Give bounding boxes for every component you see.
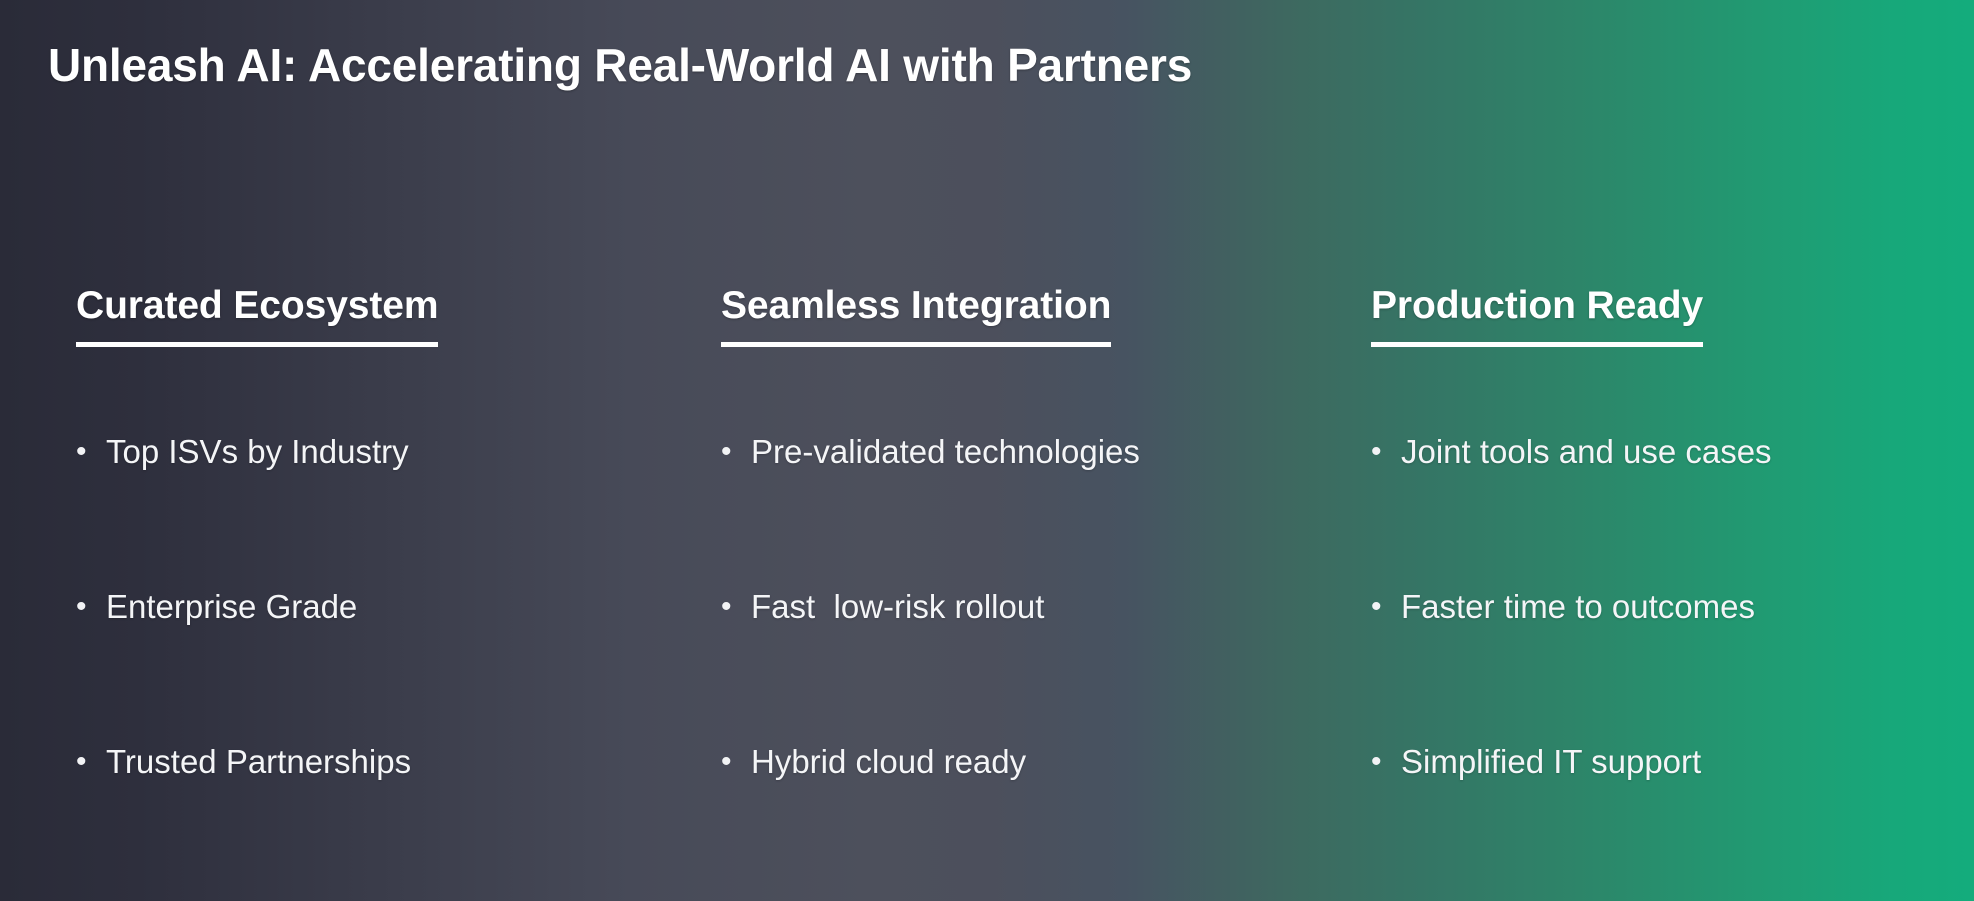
list-item-label: Fast low-risk rollout bbox=[751, 588, 1295, 626]
list-item: • Enterprise Grade bbox=[76, 588, 645, 743]
column-production-ready: Production Ready • Joint tools and use c… bbox=[1295, 284, 1974, 898]
bullet-dot-icon: • bbox=[1371, 433, 1401, 469]
list-item-label: Top ISVs by Industry bbox=[106, 433, 645, 471]
bullet-dot-icon: • bbox=[76, 588, 106, 624]
list-item-label: Faster time to outcomes bbox=[1401, 588, 1974, 626]
list-item: • Hybrid cloud ready bbox=[721, 743, 1295, 898]
three-column-content: Curated Ecosystem • Top ISVs by Industry… bbox=[0, 284, 1974, 898]
column-heading-curated-ecosystem: Curated Ecosystem bbox=[76, 284, 438, 347]
list-item: • Joint tools and use cases bbox=[1371, 433, 1974, 588]
presentation-slide: Unleash AI: Accelerating Real-World AI w… bbox=[0, 0, 1974, 901]
bullet-list-production-ready: • Joint tools and use cases • Faster tim… bbox=[1371, 433, 1974, 898]
column-heading-seamless-integration: Seamless Integration bbox=[721, 284, 1111, 347]
bullet-dot-icon: • bbox=[1371, 743, 1401, 779]
column-seamless-integration: Seamless Integration • Pre-validated tec… bbox=[645, 284, 1295, 898]
bullet-list-seamless-integration: • Pre-validated technologies • Fast low-… bbox=[721, 433, 1295, 898]
bullet-list-curated-ecosystem: • Top ISVs by Industry • Enterprise Grad… bbox=[76, 433, 645, 898]
list-item: • Pre-validated technologies bbox=[721, 433, 1295, 588]
column-curated-ecosystem: Curated Ecosystem • Top ISVs by Industry… bbox=[0, 284, 645, 898]
bullet-dot-icon: • bbox=[1371, 588, 1401, 624]
bullet-dot-icon: • bbox=[721, 588, 751, 624]
list-item: • Trusted Partnerships bbox=[76, 743, 645, 898]
bullet-dot-icon: • bbox=[721, 433, 751, 469]
list-item-label: Simplified IT support bbox=[1401, 743, 1974, 781]
list-item-label: Pre-validated technologies bbox=[751, 433, 1295, 471]
list-item: • Top ISVs by Industry bbox=[76, 433, 645, 588]
list-item-label: Enterprise Grade bbox=[106, 588, 645, 626]
list-item: • Fast low-risk rollout bbox=[721, 588, 1295, 743]
list-item: • Simplified IT support bbox=[1371, 743, 1974, 898]
list-item: • Faster time to outcomes bbox=[1371, 588, 1974, 743]
bullet-dot-icon: • bbox=[721, 743, 751, 779]
bullet-dot-icon: • bbox=[76, 433, 106, 469]
column-heading-production-ready: Production Ready bbox=[1371, 284, 1703, 347]
list-item-label: Joint tools and use cases bbox=[1401, 433, 1974, 471]
list-item-label: Trusted Partnerships bbox=[106, 743, 645, 781]
bullet-dot-icon: • bbox=[76, 743, 106, 779]
slide-title: Unleash AI: Accelerating Real-World AI w… bbox=[48, 38, 1192, 92]
list-item-label: Hybrid cloud ready bbox=[751, 743, 1295, 781]
